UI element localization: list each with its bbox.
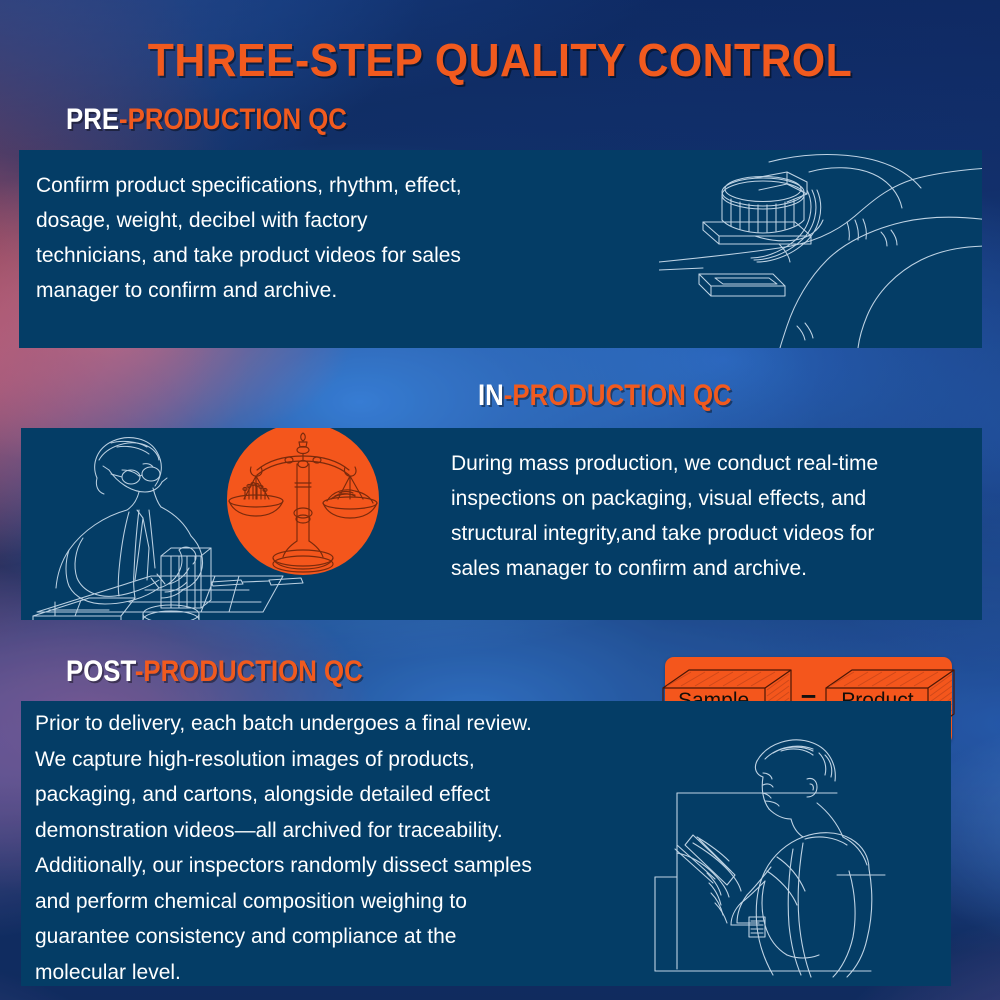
section-heading-in-production-prefix: IN bbox=[478, 379, 504, 412]
panel-post-production: Prior to delivery, each batch undergoes … bbox=[21, 701, 951, 986]
hand-holding-module-sketch bbox=[659, 150, 982, 348]
panel-pre-production-body: Confirm product specifications, rhythm, … bbox=[36, 168, 636, 308]
section-heading-pre-production-prefix: PRE bbox=[66, 103, 119, 136]
balance-scale-badge bbox=[227, 428, 379, 575]
panel-in-production-body: During mass production, we conduct real-… bbox=[451, 446, 982, 586]
section-heading-post-production-suffix: -PRODUCTION QC bbox=[135, 655, 363, 688]
panel-post-production-body: Prior to delivery, each batch undergoes … bbox=[35, 706, 675, 986]
section-heading-post-production-prefix: POST bbox=[66, 655, 135, 688]
balance-scale-icon bbox=[227, 428, 379, 575]
section-heading-pre-production-suffix: -PRODUCTION QC bbox=[119, 103, 347, 136]
panel-in-production: During mass production, we conduct real-… bbox=[21, 428, 982, 620]
panel-pre-production: Confirm product specifications, rhythm, … bbox=[19, 150, 982, 348]
section-heading-in-production: IN-PRODUCTION QC bbox=[478, 379, 732, 413]
section-heading-in-production-suffix: -PRODUCTION QC bbox=[504, 379, 732, 412]
section-heading-post-production: POST-PRODUCTION QC bbox=[66, 655, 363, 689]
section-heading-pre-production: PRE-PRODUCTION QC bbox=[66, 103, 347, 137]
page-title: THREE-STEP QUALITY CONTROL bbox=[35, 33, 965, 87]
inspector-with-clipboard-sketch bbox=[641, 731, 951, 986]
